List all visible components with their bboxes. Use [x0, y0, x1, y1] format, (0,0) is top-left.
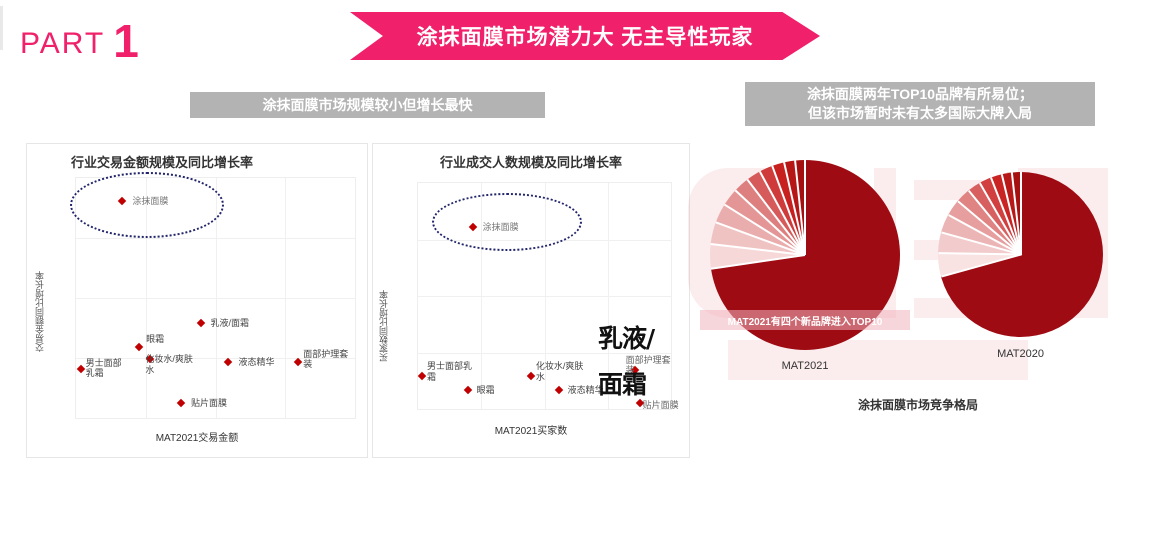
pie-slice-separator — [1020, 172, 1022, 255]
chart1-x-axis-label: MAT2021交易金额 — [27, 429, 367, 444]
scatter-point-label: 化妆水/爽肤水 — [145, 354, 197, 375]
scatter-point-label: 乳液/面霜 — [211, 318, 250, 328]
part-number: 1 — [113, 18, 139, 64]
pie-slice-separator — [735, 190, 806, 256]
scatter-point-label: 男士面部乳霜 — [427, 361, 477, 382]
scatter-point-label: 男士面部乳霜 — [86, 358, 130, 379]
scatter-point-label: 贴片面膜 — [191, 398, 227, 408]
overlay-label-line2: 面霜 — [598, 372, 646, 398]
scatter-point-label: 眼霜 — [146, 334, 164, 344]
highlight-ellipse — [70, 172, 224, 238]
scatter-point-label: 化妆水/爽肤水 — [536, 361, 584, 382]
section-banner: 涂抹面膜市场潜力大 无主导性玩家 — [350, 12, 820, 60]
subtitle-bar-right: 涂抹面膜两年TOP10品牌有所易位； 但该市场暂时未有太多国际大牌入局 — [745, 82, 1095, 126]
highlight-ellipse — [432, 193, 582, 251]
pie-slice-separator — [938, 252, 1021, 255]
chart-card-buyer-count: 行业成交人数规模及同比增长率 买家数同比增长率 涂抹面膜男士面部乳霜眼霜化妆水/… — [372, 143, 690, 458]
section-banner-title: 涂抹面膜市场潜力大 无主导性玩家 — [417, 21, 754, 51]
chart2-title: 行业成交人数规模及同比增长率 — [373, 152, 689, 171]
pie-annotation-badge: MAT2021有四个新品牌进入TOP10 — [700, 310, 910, 330]
gridline-vertical — [285, 178, 286, 418]
slide: PART 1 涂抹面膜市场潜力大 无主导性玩家 涂抹面膜市场规模较小但增长最快 … — [0, 0, 1158, 547]
chart2-y-axis-label: 买家数同比增长率 — [377, 242, 390, 362]
chart1-y-axis-label: 交易金额同比增长率 — [33, 232, 46, 352]
chart1-title: 行业交易金额规模及同比增长率 — [27, 152, 367, 171]
chart2-x-axis-label: MAT2021买家数 — [373, 422, 689, 437]
left-edge-bar — [0, 6, 3, 50]
scatter-point-label: 眼霜 — [477, 385, 495, 395]
pie-chart-group: MAT2021有四个新品牌进入TOP10 MAT2021 MAT2020 涂抹面… — [688, 150, 1148, 420]
pie1-caption: MAT2021 — [710, 360, 900, 372]
overlay-label-line1: 乳液/ — [598, 326, 654, 352]
subtitle-bar-left: 涂抹面膜市场规模较小但增长最快 — [190, 92, 545, 118]
part-label: PART 1 — [20, 14, 139, 61]
scatter-point-label: 面部护理套装 — [303, 349, 353, 370]
scatter-point-label: 液态精华 — [238, 357, 274, 367]
part-word: PART — [20, 27, 105, 61]
pie-chart-mat2020 — [938, 172, 1103, 337]
pie-group-title: 涂抹面膜市场竞争格局 — [688, 396, 1148, 413]
chart1-plot-area: 涂抹面膜乳液/面霜眼霜化妆水/爽肤水男士面部乳霜液态精华面部护理套装贴片面膜 — [75, 177, 356, 419]
pie2-caption: MAT2020 — [938, 348, 1103, 360]
subtitle-right-line2: 但该市场暂时未有太多国际大牌入局 — [807, 104, 1033, 123]
subtitle-right-line1: 涂抹面膜两年TOP10品牌有所易位； — [807, 85, 1033, 104]
chart-card-transaction-amount: 行业交易金额规模及同比增长率 交易金额同比增长率 涂抹面膜乳液/面霜眼霜化妆水/… — [26, 143, 368, 458]
subtitle-left-text: 涂抹面膜市场规模较小但增长最快 — [263, 96, 473, 115]
pie-slice-separator — [711, 254, 805, 270]
pie-slice-separator — [941, 254, 1021, 278]
scatter-point-label: 贴片面膜 — [643, 400, 679, 410]
pie-slice-separator — [804, 160, 806, 255]
